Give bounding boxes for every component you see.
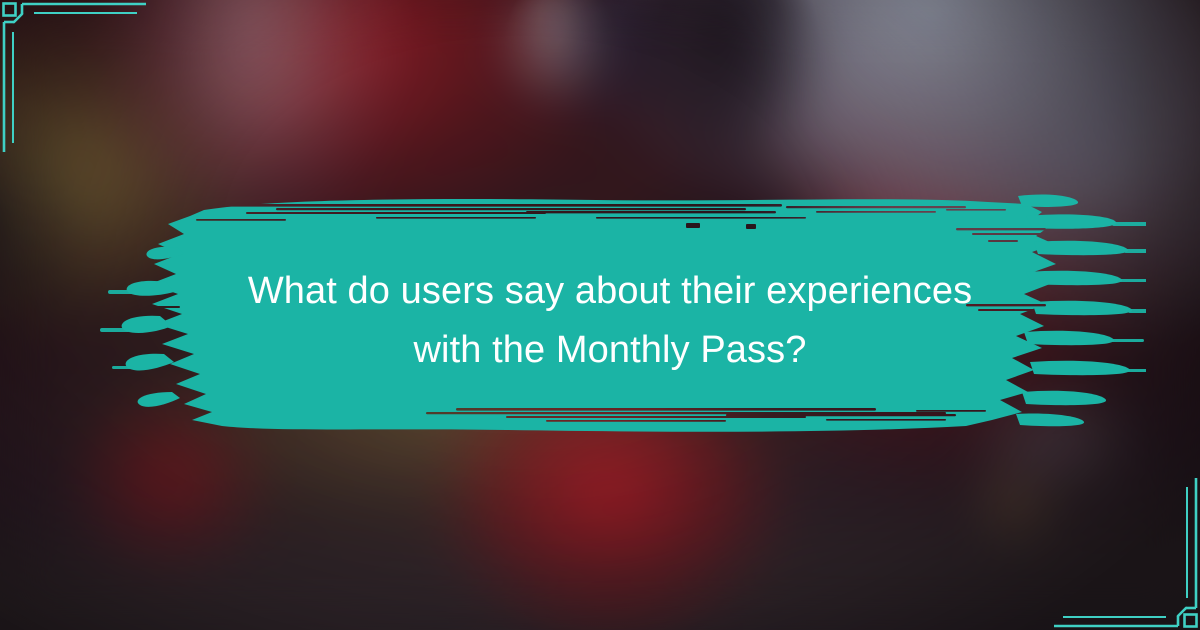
card-headline: What do users say about their experience… [170,262,1050,380]
question-card: What do users say about their experience… [0,0,1200,630]
corner-frame-bottom-right-icon [1030,460,1200,630]
corner-frame-top-left-icon [0,0,170,170]
